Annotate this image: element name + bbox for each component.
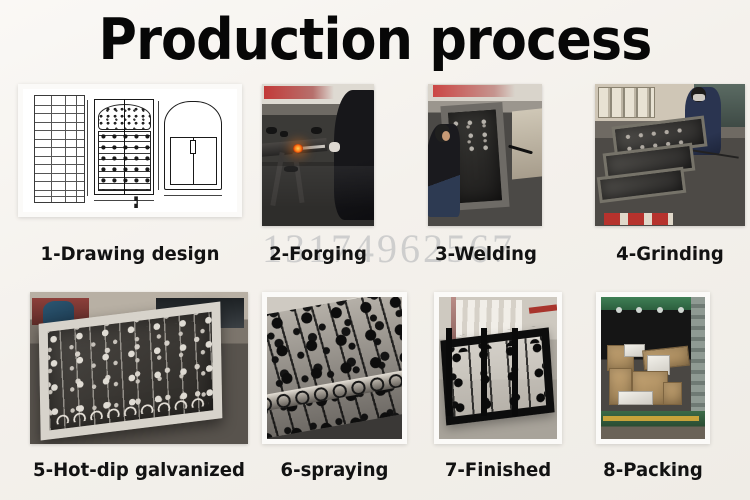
production-process-infographic: Production process [0, 0, 750, 500]
step-caption-6: 6-spraying [266, 458, 404, 482]
forging-photo [262, 84, 374, 226]
cad-dimension-line [87, 100, 88, 196]
red-banner-text [264, 86, 333, 99]
red-banner-text [433, 85, 515, 96]
cad-dimension-line [94, 200, 154, 201]
finished-scene-art [439, 297, 557, 439]
carton-box [663, 382, 682, 405]
container-floor [601, 411, 705, 439]
grinding-photo [595, 84, 745, 226]
welding-photo [428, 84, 542, 226]
floor-banner [604, 213, 673, 224]
cad-dimension-line [158, 101, 159, 190]
step-caption-2: 2-Forging [259, 242, 377, 266]
step-caption-3: 3-Welding [428, 242, 544, 266]
forging-scene-art [262, 84, 374, 226]
gate-post [481, 328, 487, 416]
worker-face [442, 131, 450, 141]
grinding-scene-art [595, 84, 745, 226]
welding-scene-art [428, 84, 542, 226]
face-mask [693, 94, 705, 101]
cad-gate-centerline [124, 99, 125, 195]
finished-photo [434, 292, 562, 444]
galvanized-scene-art [30, 292, 248, 444]
cad-dimension-line [164, 195, 222, 196]
cad-sheet-art [23, 89, 237, 212]
panel-rack [598, 87, 655, 118]
spraying-photo [262, 292, 407, 444]
floor-stripe [603, 416, 699, 420]
hot-dip-galvanized-photo [30, 292, 248, 444]
step-caption-8: 8-Packing [595, 458, 711, 482]
page-title: Production process [30, 6, 720, 74]
cad-spec-table [34, 95, 85, 203]
finished-gate [440, 327, 554, 425]
red-beam [528, 304, 557, 313]
gate-post [446, 328, 452, 416]
background-wall [512, 108, 542, 179]
gate-post [512, 328, 518, 416]
step-caption-4: 4-Grinding [599, 242, 742, 266]
cad-gate-elevation [164, 101, 222, 190]
cad-logo-icon [134, 196, 142, 208]
step-caption-5: 5-Hot-dip galvanized [28, 458, 250, 482]
spraying-scene-art [267, 297, 402, 439]
packing-scene-art [601, 297, 705, 439]
step-caption-1: 1-Drawing design [24, 242, 237, 266]
cad-drawing-design-photo [18, 84, 242, 217]
wrapped-package [618, 391, 653, 405]
iron-scrollwork [267, 297, 402, 439]
work-glove [329, 142, 340, 152]
packing-photo [596, 292, 710, 444]
galvanized-gate-panel [38, 302, 222, 440]
step-caption-7: 7-Finished [432, 458, 565, 482]
